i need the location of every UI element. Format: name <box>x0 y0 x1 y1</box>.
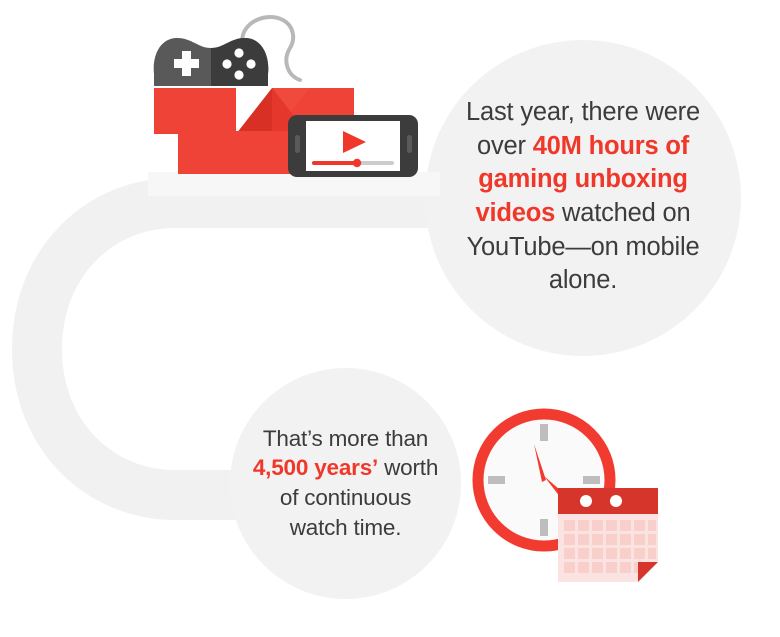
calendar-folded-corner <box>638 562 658 582</box>
game-controller-icon <box>154 38 269 86</box>
clock-tick-3 <box>583 476 600 484</box>
desk-calendar-icon <box>558 488 658 582</box>
callout-bottom-highlight: 4,500 years’ <box>253 455 378 480</box>
hours-watched-callout-text: Last year, there were over 40M hours of … <box>454 96 712 298</box>
clock-calendar-illustration <box>472 402 668 592</box>
years-equivalent-callout: That’s more than 4,500 years’ worth of c… <box>230 368 461 599</box>
calendar-hole-right <box>610 495 622 507</box>
clock-calendar-svg <box>472 402 668 592</box>
clock-tick-12 <box>540 424 548 441</box>
clock-tick-9 <box>488 476 505 484</box>
calendar-hole-left <box>580 495 592 507</box>
button-left <box>222 59 231 68</box>
smartphone-icon <box>288 115 418 177</box>
callout-bottom-segment-0: That’s more than <box>263 426 428 451</box>
years-equivalent-callout-text: That’s more than 4,500 years’ worth of c… <box>253 424 439 543</box>
calendar-header <box>558 488 658 514</box>
hours-watched-callout: Last year, there were over 40M hours of … <box>425 40 741 356</box>
button-up <box>234 48 243 57</box>
progress-scrubber <box>353 159 361 167</box>
button-right <box>246 59 255 68</box>
infographic-canvas: Last year, there were over 40M hours of … <box>0 0 780 637</box>
unboxing-svg <box>148 4 440 196</box>
button-down <box>234 70 243 79</box>
phone-button-right <box>407 135 412 153</box>
progress-fill <box>312 161 357 165</box>
phone-button-left <box>295 135 300 153</box>
unboxing-illustration <box>148 4 440 196</box>
clock-tick-6 <box>540 519 548 536</box>
